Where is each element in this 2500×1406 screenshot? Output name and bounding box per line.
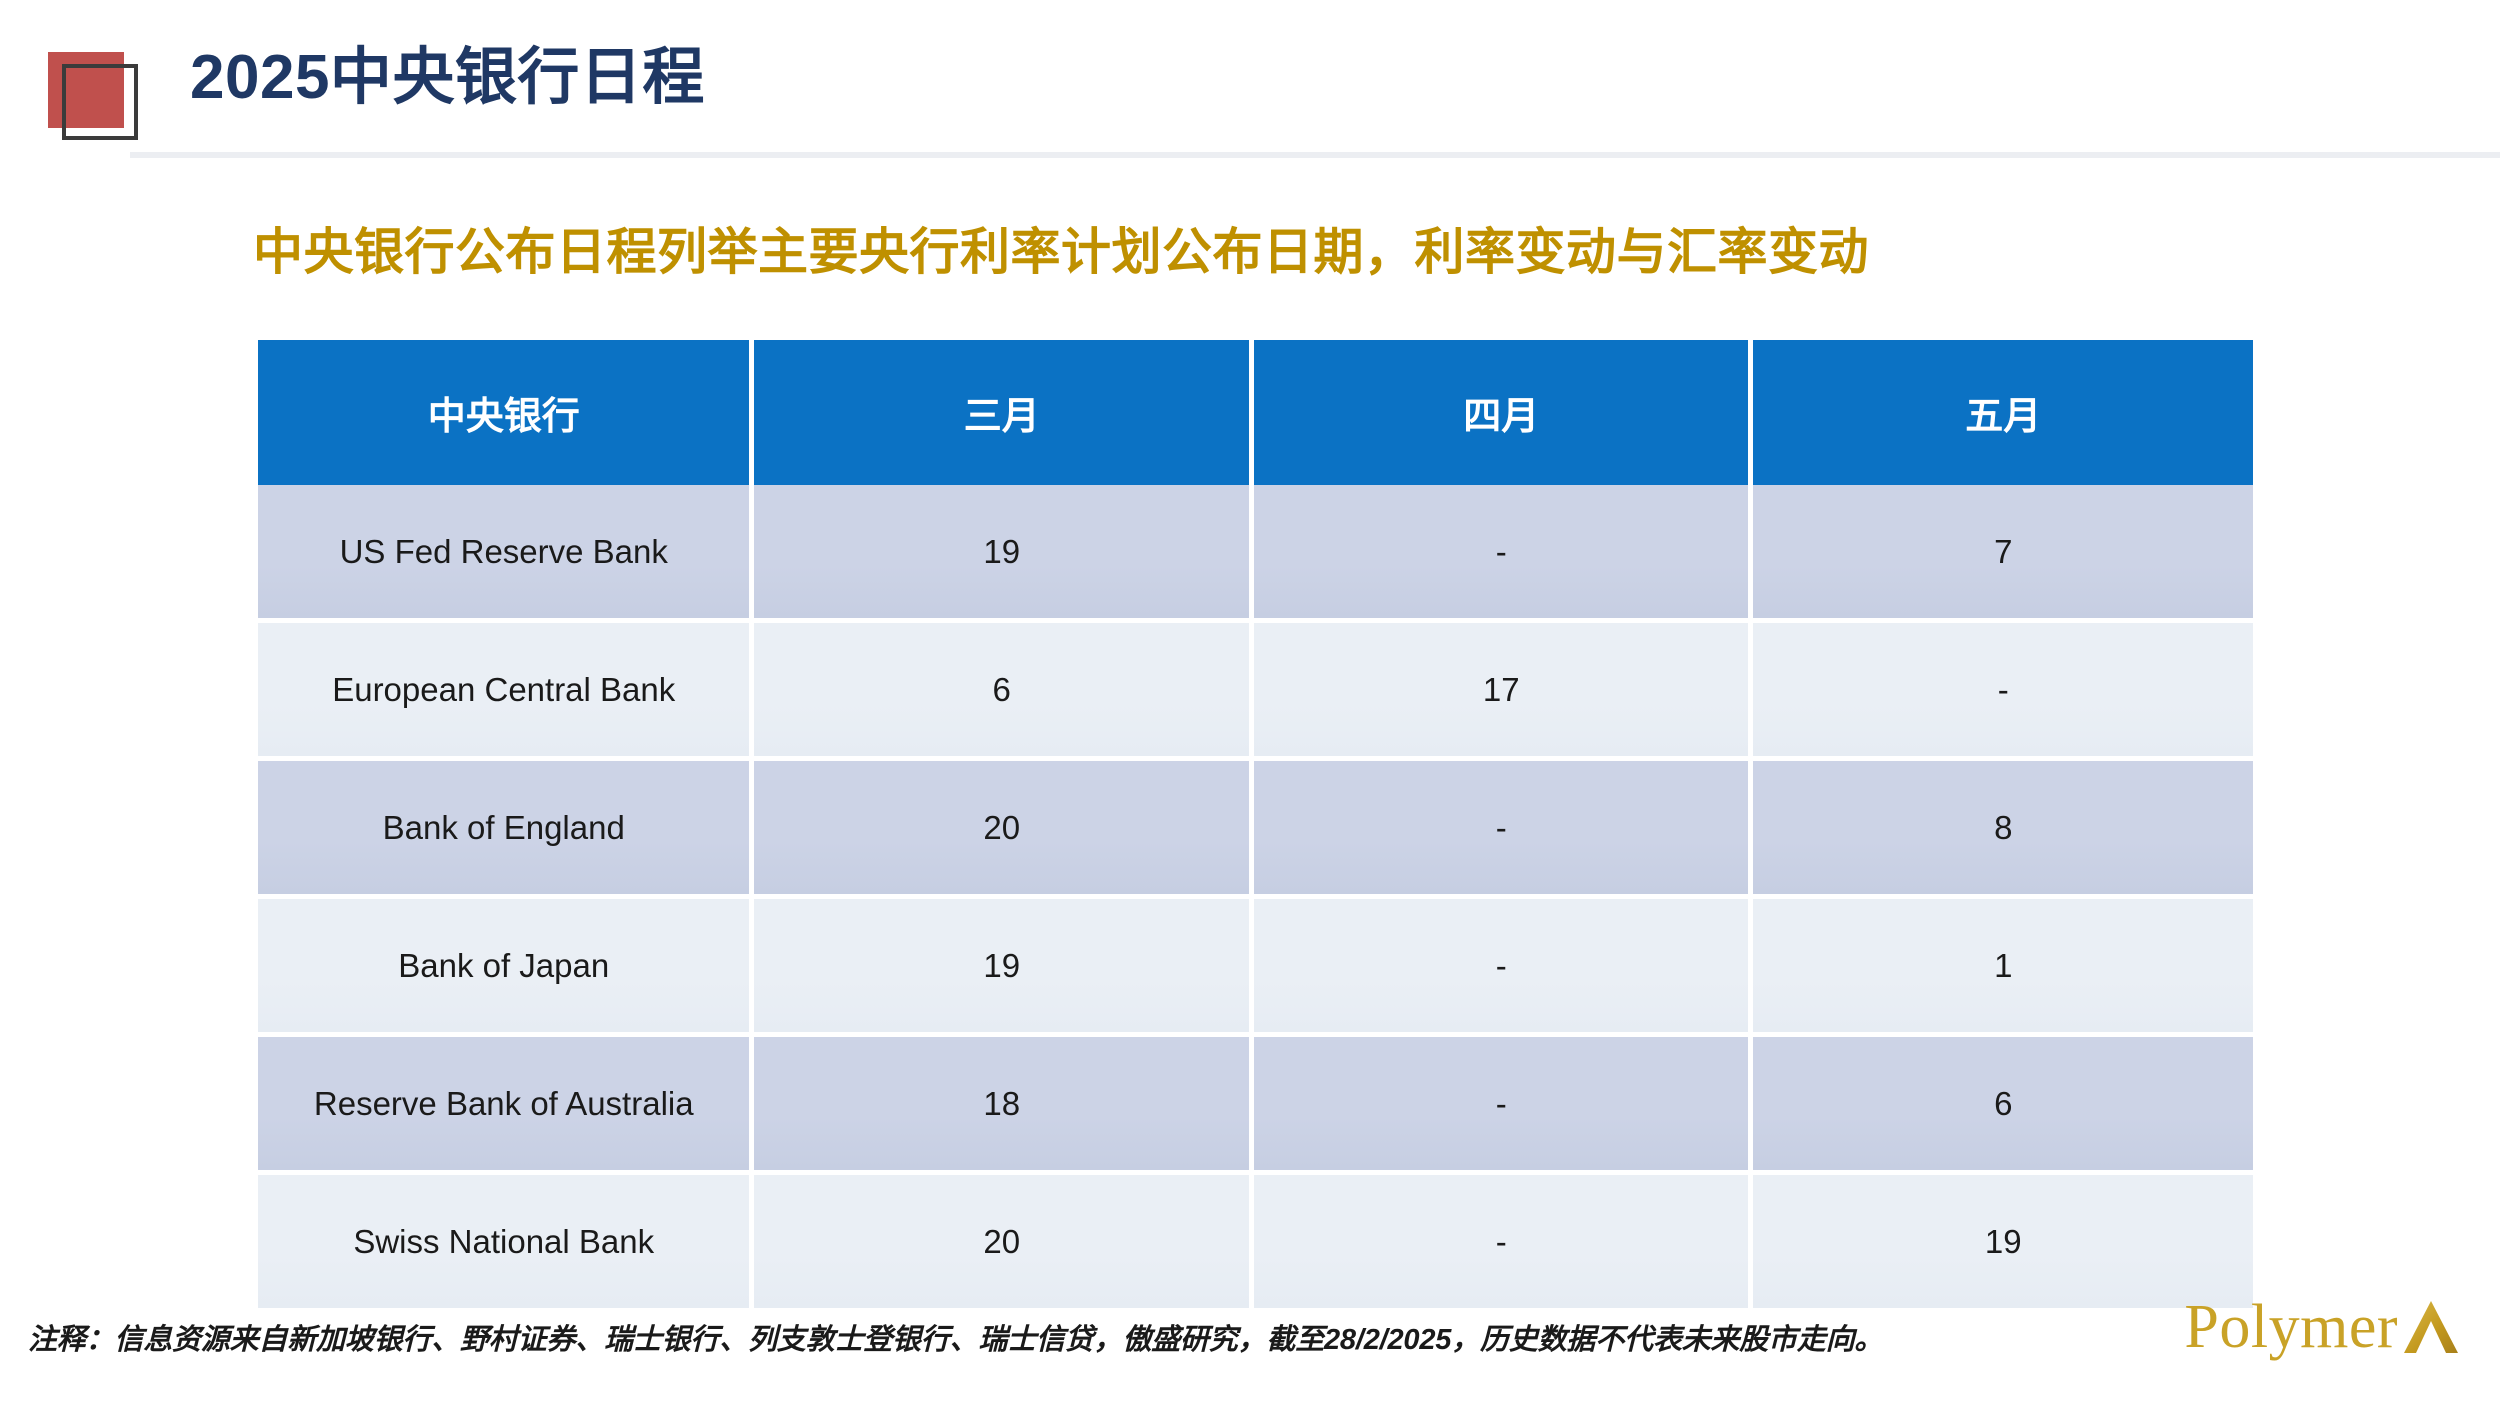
column-header-may: 五月 — [1753, 340, 2253, 485]
square-logo-mark — [48, 52, 124, 128]
cell-april: - — [1254, 1037, 1754, 1175]
caret-logo-icon — [2402, 1299, 2460, 1355]
cell-bank-name: Bank of Japan — [258, 899, 754, 1037]
cell-may: 6 — [1753, 1037, 2253, 1175]
source-footnote: 注释：信息资源来自新加坡银行、野村证券、瑞士银行、列支敦士登银行、瑞士信贷，傲盛… — [28, 1316, 1883, 1358]
slide-header: 2025中央银行日程 — [0, 0, 2500, 160]
cell-bank-name: Swiss National Bank — [258, 1175, 754, 1308]
cell-april: - — [1254, 485, 1754, 623]
table-row: US Fed Reserve Bank 19 - 7 — [258, 485, 2253, 623]
cell-may: 19 — [1753, 1175, 2253, 1308]
cell-may: - — [1753, 623, 2253, 761]
cell-april: - — [1254, 1175, 1754, 1308]
table-header-row: 中央银行 三月 四月 五月 — [258, 340, 2253, 485]
cell-bank-name: US Fed Reserve Bank — [258, 485, 754, 623]
cell-march: 6 — [754, 623, 1254, 761]
column-header-april: 四月 — [1254, 340, 1754, 485]
column-header-bank: 中央银行 — [258, 340, 754, 485]
cell-april: 17 — [1254, 623, 1754, 761]
cell-bank-name: Bank of England — [258, 761, 754, 899]
cell-march: 19 — [754, 485, 1254, 623]
table-row: Bank of England 20 - 8 — [258, 761, 2253, 899]
table-row: Reserve Bank of Australia 18 - 6 — [258, 1037, 2253, 1175]
cell-bank-name: Reserve Bank of Australia — [258, 1037, 754, 1175]
cell-april: - — [1254, 761, 1754, 899]
brand-wordmark: Polymer — [2184, 1296, 2398, 1358]
table-row: European Central Bank 6 17 - — [258, 623, 2253, 761]
table-row: Bank of Japan 19 - 1 — [258, 899, 2253, 1037]
cell-may: 1 — [1753, 899, 2253, 1037]
subtitle: 中央银行公布日程列举主要央行利率计划公布日期，利率变动与汇率变动 — [253, 212, 2453, 284]
header-divider — [130, 152, 2500, 158]
central-bank-schedule-table: 中央银行 三月 四月 五月 US Fed Reserve Bank 19 - 7… — [258, 340, 2253, 1308]
table-row: Swiss National Bank 20 - 19 — [258, 1175, 2253, 1308]
polymer-logo: Polymer — [2184, 1296, 2460, 1358]
cell-march: 19 — [754, 899, 1254, 1037]
cell-april: - — [1254, 899, 1754, 1037]
outlined-square-icon — [62, 64, 138, 140]
cell-march: 20 — [754, 761, 1254, 899]
page-title: 2025中央银行日程 — [190, 28, 705, 128]
column-header-march: 三月 — [754, 340, 1254, 485]
cell-may: 8 — [1753, 761, 2253, 899]
cell-march: 20 — [754, 1175, 1254, 1308]
table-body: US Fed Reserve Bank 19 - 7 European Cent… — [258, 485, 2253, 1308]
cell-may: 7 — [1753, 485, 2253, 623]
cell-march: 18 — [754, 1037, 1254, 1175]
cell-bank-name: European Central Bank — [258, 623, 754, 761]
